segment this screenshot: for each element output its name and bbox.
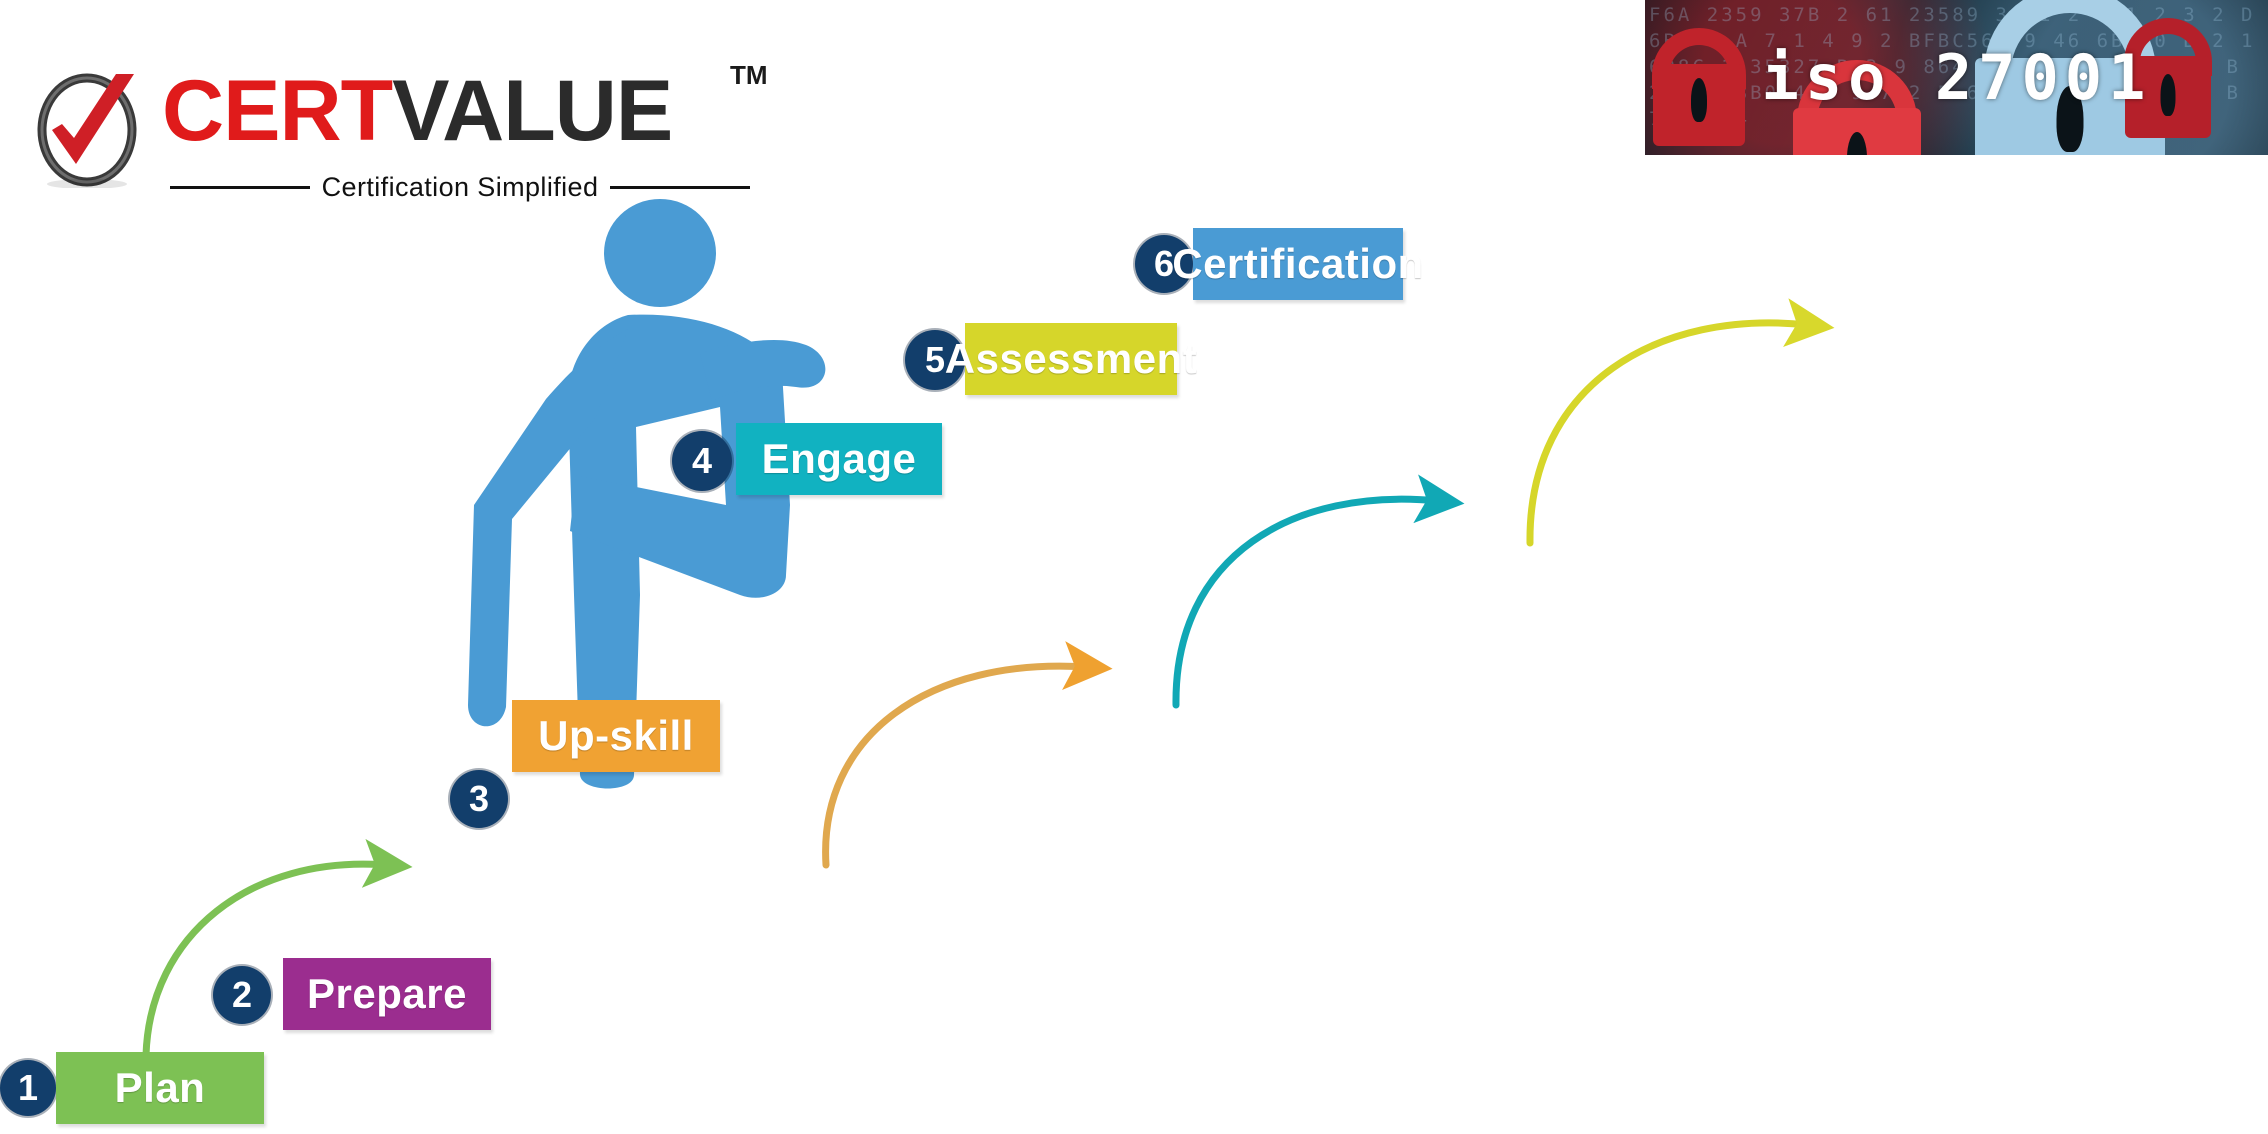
brand-wordmark-cert: CERT bbox=[162, 63, 392, 159]
check-circle-icon bbox=[30, 68, 150, 188]
arrow-upskill-to-engage bbox=[826, 666, 1086, 865]
step-label-engage[interactable]: Engage bbox=[736, 423, 942, 495]
step-label-certification[interactable]: Certification bbox=[1193, 228, 1403, 300]
brand-logo[interactable]: CERTVALUE TM Certification Simplified bbox=[30, 30, 790, 180]
iso-27001-banner-image: F6A 2359 37B 2 61 23589 3 A1 2 C 1 2 3 2… bbox=[1645, 0, 2268, 155]
step-label-upskill[interactable]: Up-skill bbox=[512, 700, 720, 772]
brand-wordmark: CERTVALUE bbox=[162, 68, 672, 154]
step-number-badge: 4 bbox=[672, 431, 732, 491]
step-label-plan[interactable]: Plan bbox=[56, 1052, 264, 1124]
step-number-badge: 2 bbox=[213, 966, 271, 1024]
trademark-symbol: TM bbox=[730, 60, 768, 91]
step-number-badge: 1 bbox=[0, 1060, 56, 1116]
certification-journey-diagram: 1 Plan 2 Prepare 3 Up-skill 4 Engage 5 A… bbox=[0, 175, 2268, 1134]
brand-wordmark-value: VALUE bbox=[392, 63, 672, 159]
arrow-engage-to-assessment bbox=[1176, 499, 1438, 705]
iso-banner-title: iso 27001 bbox=[1645, 0, 2268, 155]
arrow-assessment-to-certification bbox=[1530, 323, 1808, 543]
step-label-assessment[interactable]: Assessment bbox=[965, 323, 1177, 395]
step-number-badge: 3 bbox=[450, 770, 508, 828]
step-label-prepare[interactable]: Prepare bbox=[283, 958, 491, 1030]
